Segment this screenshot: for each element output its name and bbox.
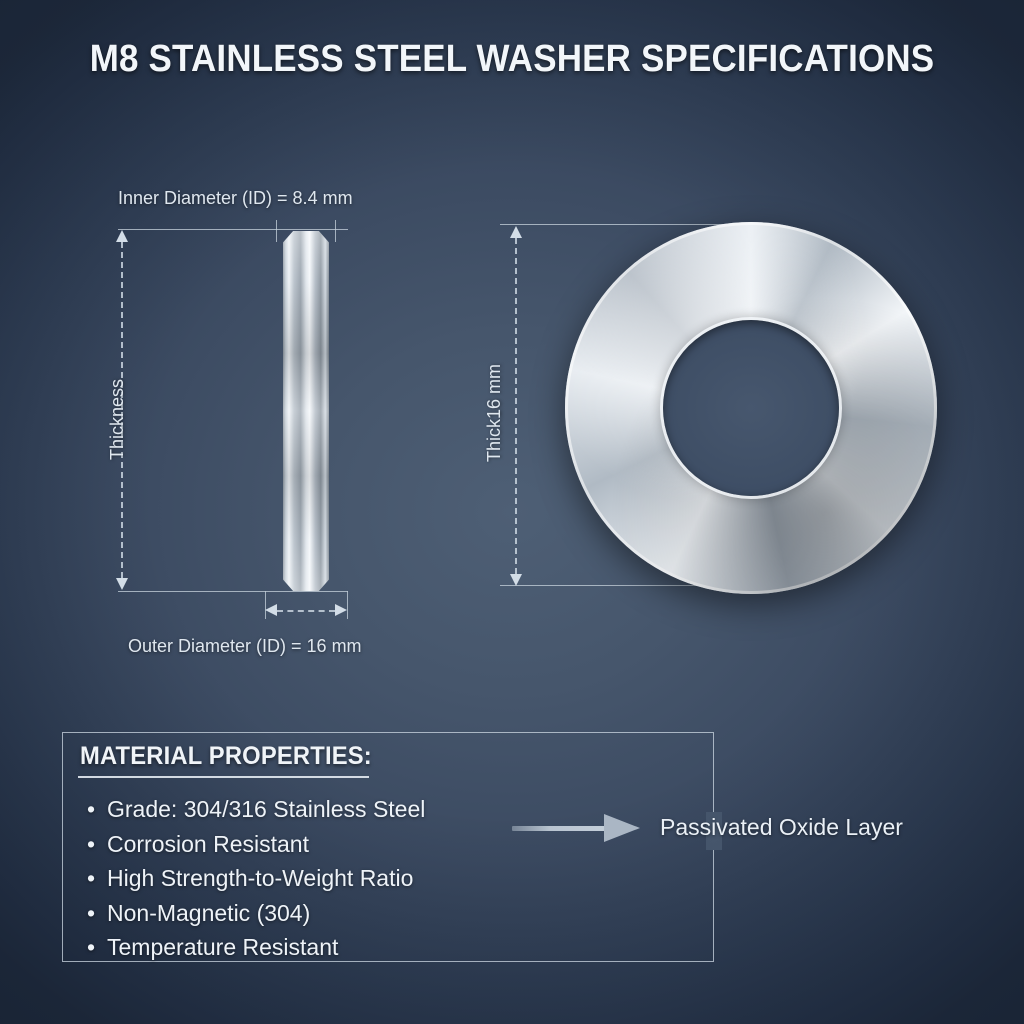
list-item: Grade: 304/316 Stainless Steel [85, 792, 425, 827]
side-view-washer [283, 231, 329, 591]
id-tick-right [335, 220, 336, 242]
face-dimension-line [515, 238, 517, 574]
list-item: Temperature Resistant [85, 930, 425, 965]
face-dimension-arrow-down [510, 574, 522, 586]
face-view-washer [565, 222, 937, 594]
face-top-extension-line [500, 224, 730, 225]
side-view-washer-sheen [283, 231, 329, 591]
top-extension-line [118, 229, 348, 230]
material-properties-list: Grade: 304/316 Stainless Steel Corrosion… [85, 792, 425, 965]
od-arrow-left [265, 604, 277, 616]
id-tick-left [276, 220, 277, 242]
material-properties-heading-underline [78, 776, 369, 778]
callout-label: Passivated Oxide Layer [660, 814, 903, 841]
thickness-arrow-down [116, 578, 128, 590]
arrow-right-head-icon [604, 814, 640, 842]
list-item: High Strength-to-Weight Ratio [85, 861, 425, 896]
face-dimension-arrow-up [510, 226, 522, 238]
od-arrow-right [335, 604, 347, 616]
bottom-extension-line [118, 591, 348, 592]
list-item: Non-Magnetic (304) [85, 896, 425, 931]
list-item: Corrosion Resistant [85, 827, 425, 862]
face-view-washer-hole [663, 320, 839, 496]
material-properties-heading: MATERIAL PROPERTIES: [80, 742, 372, 771]
od-tick-right [347, 591, 348, 619]
od-dimension-line [277, 610, 335, 612]
thickness-arrow-up [116, 230, 128, 242]
page-title: M8 STAINLESS STEEL WASHER SPECIFICATIONS [41, 38, 983, 81]
inner-diameter-label: Inner Diameter (ID) = 8.4 mm [118, 188, 353, 209]
arrow-right-icon [512, 826, 608, 831]
face-dimension-label: Thick16 mm [484, 364, 505, 462]
outer-diameter-label: Outer Diameter (ID) = 16 mm [128, 636, 362, 657]
thickness-label-left: Thickness [107, 379, 128, 460]
